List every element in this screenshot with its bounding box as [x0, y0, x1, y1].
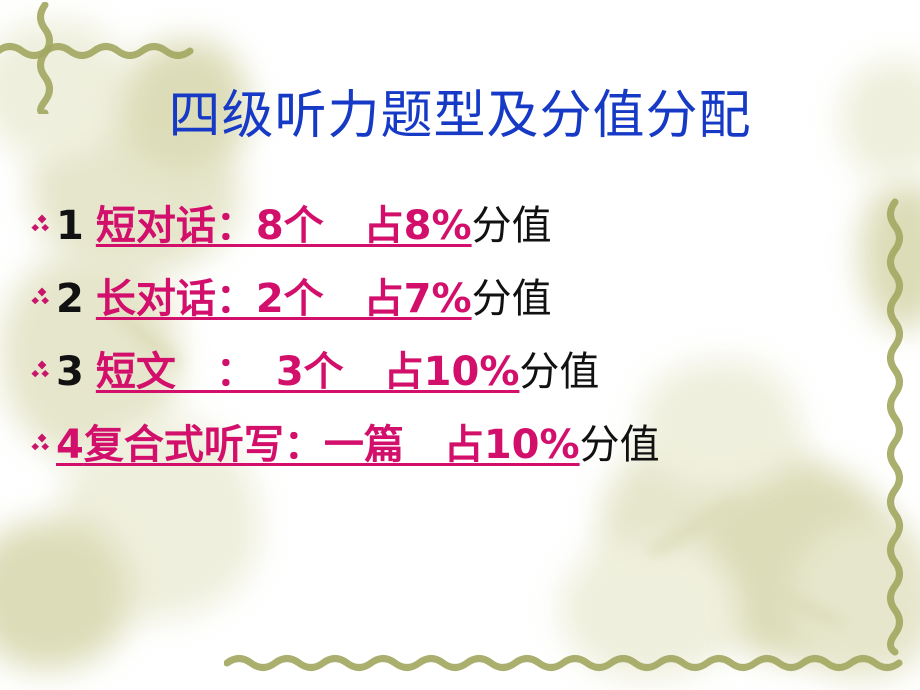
decor-wave-bottom-horizontal	[224, 648, 920, 678]
bullet-text: 1短对话：8个 占8%分值	[56, 206, 552, 246]
bullet-index: 3	[56, 349, 84, 395]
bullet-highlight-text: 短对话：8个 占8%	[96, 203, 472, 249]
slide-title: 四级听力题型及分值分配	[0, 88, 920, 144]
bullet-list: 1短对话：8个 占8%分值2长对话：2个 占7%分值3短文 ： 3个 占10%分…	[30, 206, 910, 498]
slide-canvas: 四级听力题型及分值分配 1短对话：8个 占8%分值2长对话：2个 占7%分值3短…	[0, 0, 920, 690]
bullet-row: 2长对话：2个 占7%分值	[30, 279, 910, 352]
bullet-index: 1	[56, 203, 84, 249]
diamond-bullet-icon	[30, 213, 56, 237]
bullet-tail-text: 分值	[519, 349, 599, 395]
diamond-bullet-icon	[30, 432, 56, 456]
bullet-text: 4复合式听写：一篇 占10%分值	[56, 425, 660, 465]
bullet-index: 2	[56, 276, 84, 322]
bullet-highlight-text: 短文 ： 3个 占10%	[96, 349, 520, 395]
bullet-row: 1短对话：8个 占8%分值	[30, 206, 910, 279]
bullet-index: 4	[56, 422, 84, 468]
bullet-row: 3短文 ： 3个 占10%分值	[30, 352, 910, 425]
bullet-tail-text: 分值	[472, 276, 552, 322]
bullet-text: 2长对话：2个 占7%分值	[56, 279, 552, 319]
bullet-highlight-text: 长对话：2个 占7%	[96, 276, 472, 322]
bullet-tail-text: 分值	[472, 203, 552, 249]
bullet-text: 3短文 ： 3个 占10%分值	[56, 352, 599, 392]
diamond-bullet-icon	[30, 286, 56, 310]
bullet-row: 4复合式听写：一篇 占10%分值	[30, 425, 910, 498]
bullet-highlight-text: 复合式听写：一篇 占10%	[84, 422, 580, 468]
bullet-tail-text: 分值	[580, 422, 660, 468]
diamond-bullet-icon	[30, 359, 56, 383]
decor-wave-top-horizontal	[0, 34, 201, 64]
